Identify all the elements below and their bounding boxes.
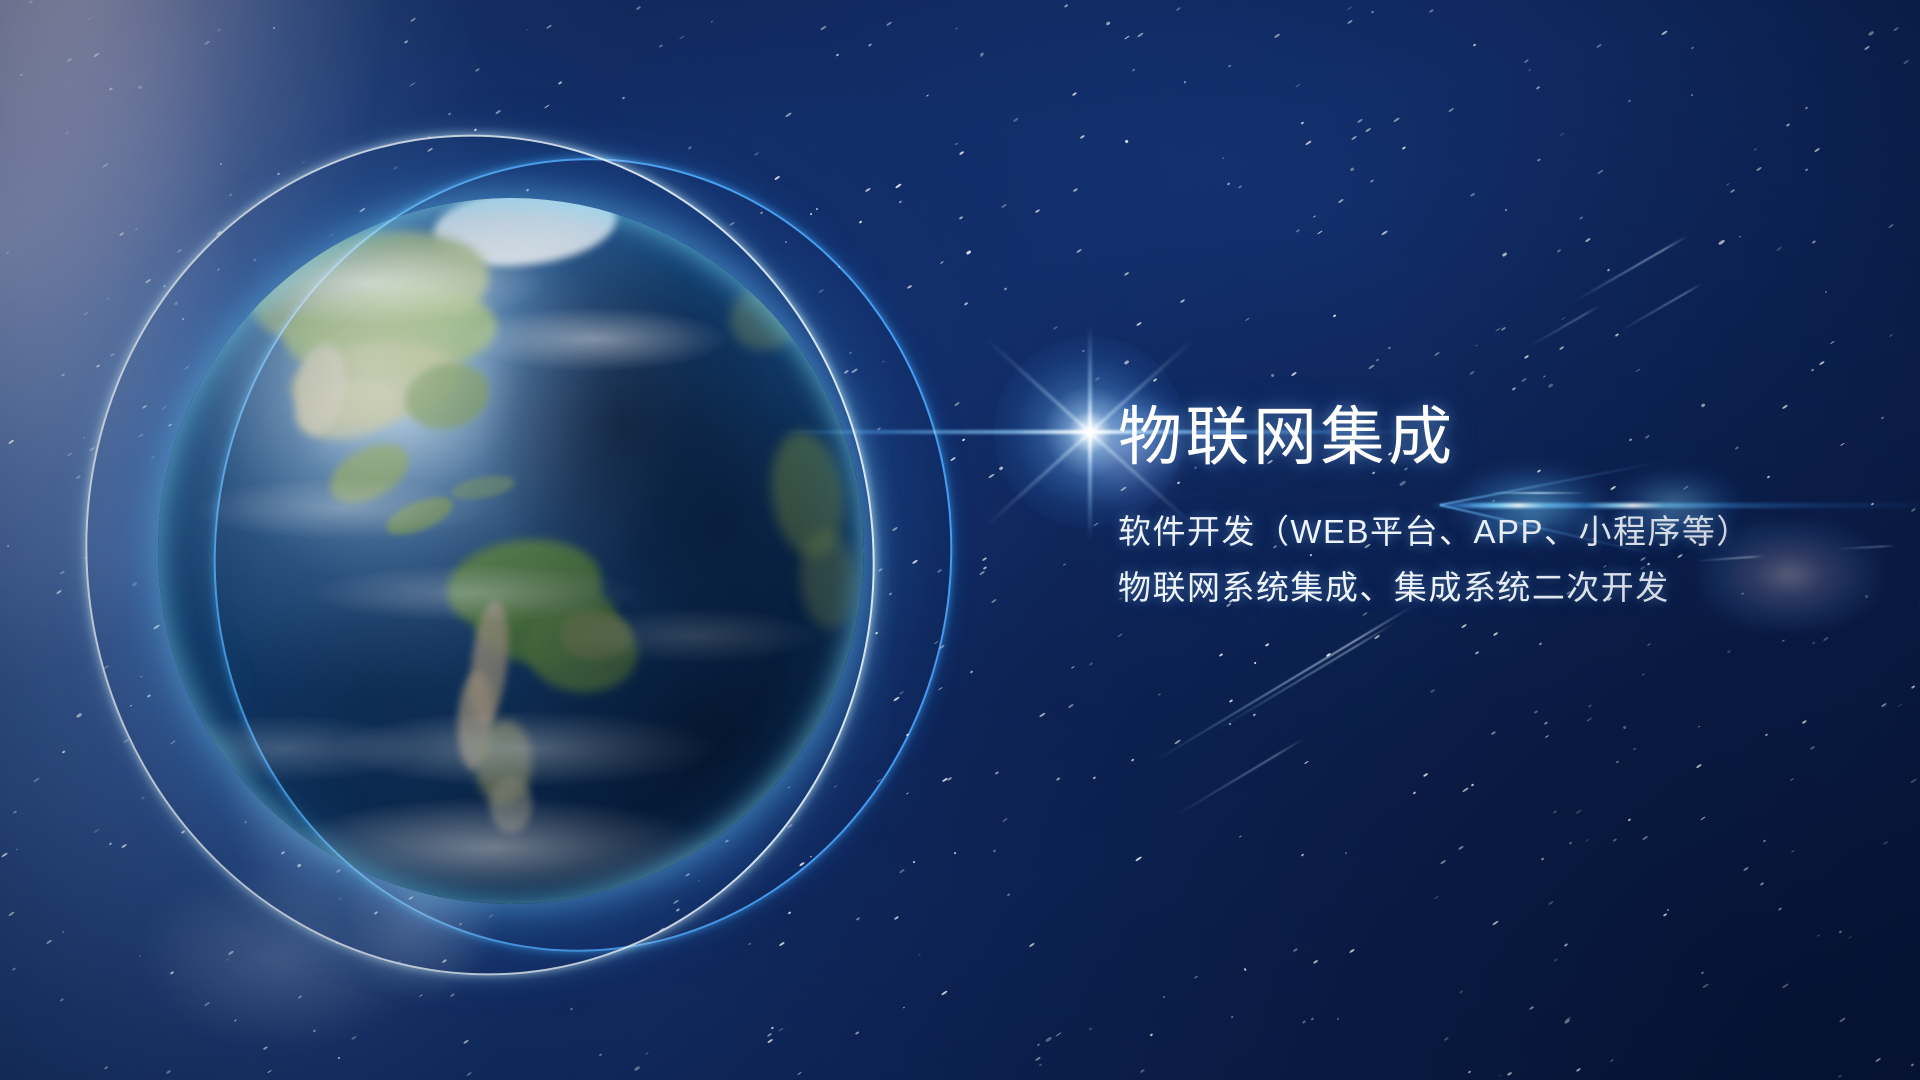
hero-copy: 物联网集成 软件开发（WEB平台、APP、小程序等） 物联网系统集成、集成系统二… xyxy=(1118,404,1878,610)
subtitle-line-2: 物联网系统集成、集成系统二次开发 xyxy=(1118,567,1878,609)
iot-hero-banner: 物联网集成 软件开发（WEB平台、APP、小程序等） 物联网系统集成、集成系统二… xyxy=(0,0,1920,1080)
page-title: 物联网集成 xyxy=(1118,404,1878,471)
subtitle-line-1: 软件开发（WEB平台、APP、小程序等） xyxy=(1118,511,1878,553)
